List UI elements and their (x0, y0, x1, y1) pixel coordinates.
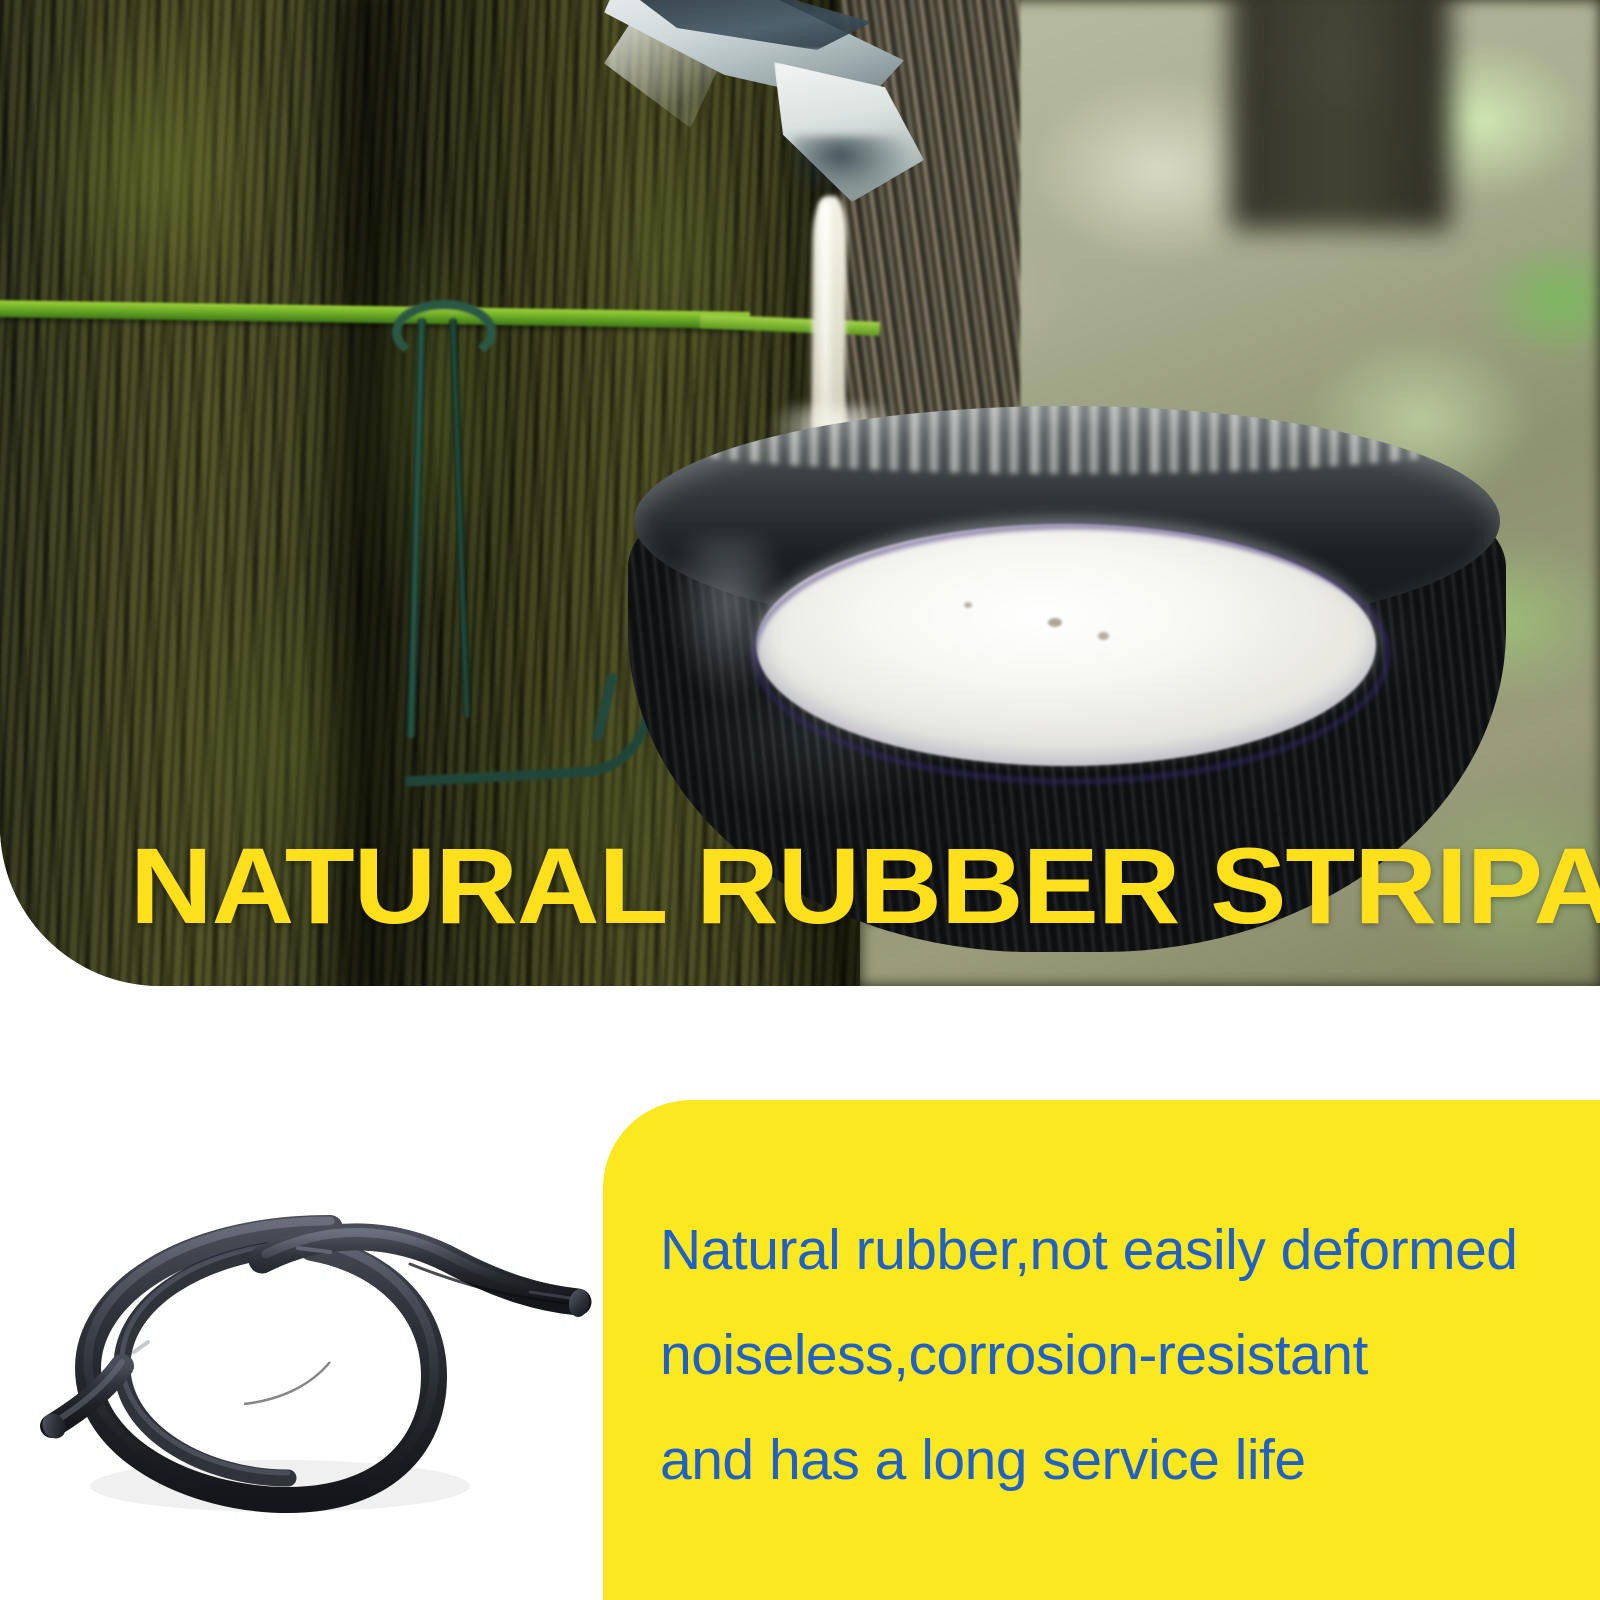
latex-debris-fleck (1048, 618, 1062, 627)
latex-pool-edge (752, 524, 1390, 784)
background-trunk (1230, 0, 1450, 230)
hero-photo: NATURAL RUBBER STRIPA (0, 0, 1600, 986)
feature-text-block: Natural rubber,not easily deformed noise… (660, 1198, 1590, 1513)
rubber-strip-illustration (30, 1156, 600, 1526)
feature-line-2: noiseless,corrosion-resistant (660, 1303, 1590, 1408)
latex-tapping-spout (596, 0, 926, 236)
bowl-rim-latex-crust (634, 406, 1500, 474)
wire-loop (392, 300, 496, 364)
latex-debris-fleck (1098, 632, 1109, 640)
feature-line-1: Natural rubber,not easily deformed (660, 1198, 1590, 1303)
product-photo-rubber-strip (30, 1156, 600, 1526)
feature-info-panel: Natural rubber,not easily deformed noise… (603, 1100, 1600, 1600)
spout-underside-shadow (792, 136, 912, 200)
feature-line-3: and has a long service life (660, 1408, 1590, 1513)
bowl-highlight (668, 536, 788, 706)
product-banner-page: NATURAL RUBBER STRIPA (0, 0, 1600, 1600)
headline-text: NATURAL RUBBER STRIPA (130, 832, 1600, 940)
bottom-section: Natural rubber,not easily deformed noise… (0, 986, 1600, 1600)
latex-debris-fleck (964, 602, 972, 608)
latex-stream-highlight (820, 200, 831, 425)
